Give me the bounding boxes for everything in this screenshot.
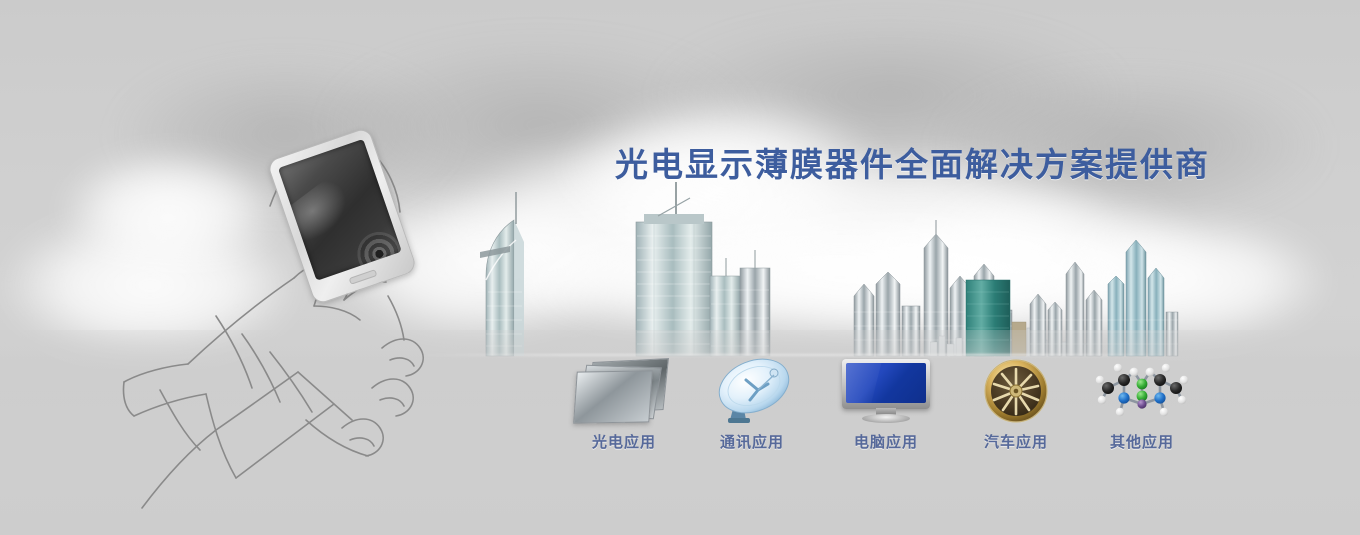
- glass-film-panels-icon: [560, 356, 688, 424]
- hero-banner: 光电显示薄膜器件全面解决方案提供商 光电应用: [0, 0, 1360, 535]
- page-title: 光电显示薄膜器件全面解决方案提供商: [615, 138, 1210, 186]
- application-label: 通讯应用: [688, 431, 816, 452]
- application-label: 其他应用: [1078, 431, 1206, 452]
- monitor-base: [862, 414, 910, 423]
- monitor-screen: [846, 363, 926, 403]
- application-item-optoelectronic[interactable]: 光电应用: [560, 356, 688, 452]
- application-item-communication[interactable]: 通讯应用: [688, 356, 816, 452]
- car-wheel-rim-icon: [952, 356, 1080, 424]
- molecule-model-icon: [1078, 356, 1206, 424]
- monitor-bezel: [842, 359, 930, 409]
- application-item-other[interactable]: 其他应用: [1078, 356, 1206, 452]
- application-label: 电脑应用: [822, 431, 950, 452]
- satellite-dish-icon: [688, 356, 816, 424]
- application-icon-row: 光电应用: [560, 356, 1200, 466]
- application-item-automotive[interactable]: 汽车应用: [952, 356, 1080, 452]
- computer-monitor-icon: [822, 356, 950, 424]
- phone-home-button: [349, 269, 378, 285]
- application-label: 汽车应用: [952, 431, 1080, 452]
- screen-glare: [281, 174, 359, 248]
- application-item-computer[interactable]: 电脑应用: [822, 356, 950, 452]
- film-panel-front: [573, 370, 653, 423]
- application-label: 光电应用: [560, 431, 688, 452]
